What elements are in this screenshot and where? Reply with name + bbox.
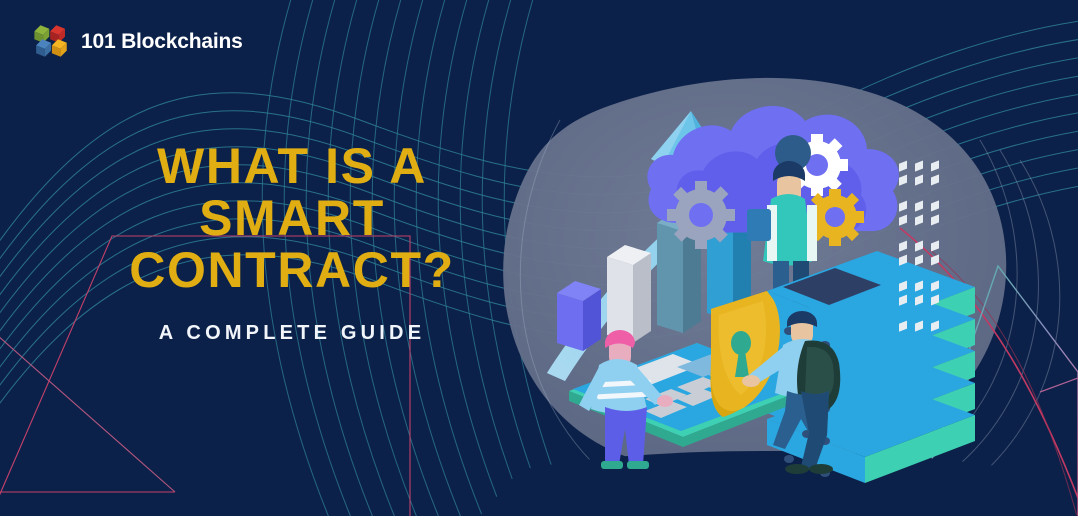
page-title-line-1: WHAT IS A — [82, 140, 502, 192]
banner-root: 101 Blockchains WHAT IS A SMART CONTRACT… — [0, 0, 1078, 516]
gradient-line-right — [1040, 378, 1078, 392]
person-left-figure — [579, 330, 673, 469]
bar-2 — [607, 245, 651, 343]
page-title-line-2: SMART — [82, 192, 502, 244]
blockchain-cubes-icon — [30, 20, 72, 62]
bar-1 — [557, 281, 601, 351]
brand-logo[interactable]: 101 Blockchains — [30, 20, 243, 62]
brand-name: 101 Blockchains — [81, 31, 243, 52]
page-title-line-3: CONTRACT? — [82, 244, 502, 296]
headline-block: WHAT IS A SMART CONTRACT? A COMPLETE GUI… — [82, 140, 502, 345]
smart-contract-illustration — [505, 55, 1025, 485]
page-subtitle: A COMPLETE GUIDE — [82, 322, 502, 345]
